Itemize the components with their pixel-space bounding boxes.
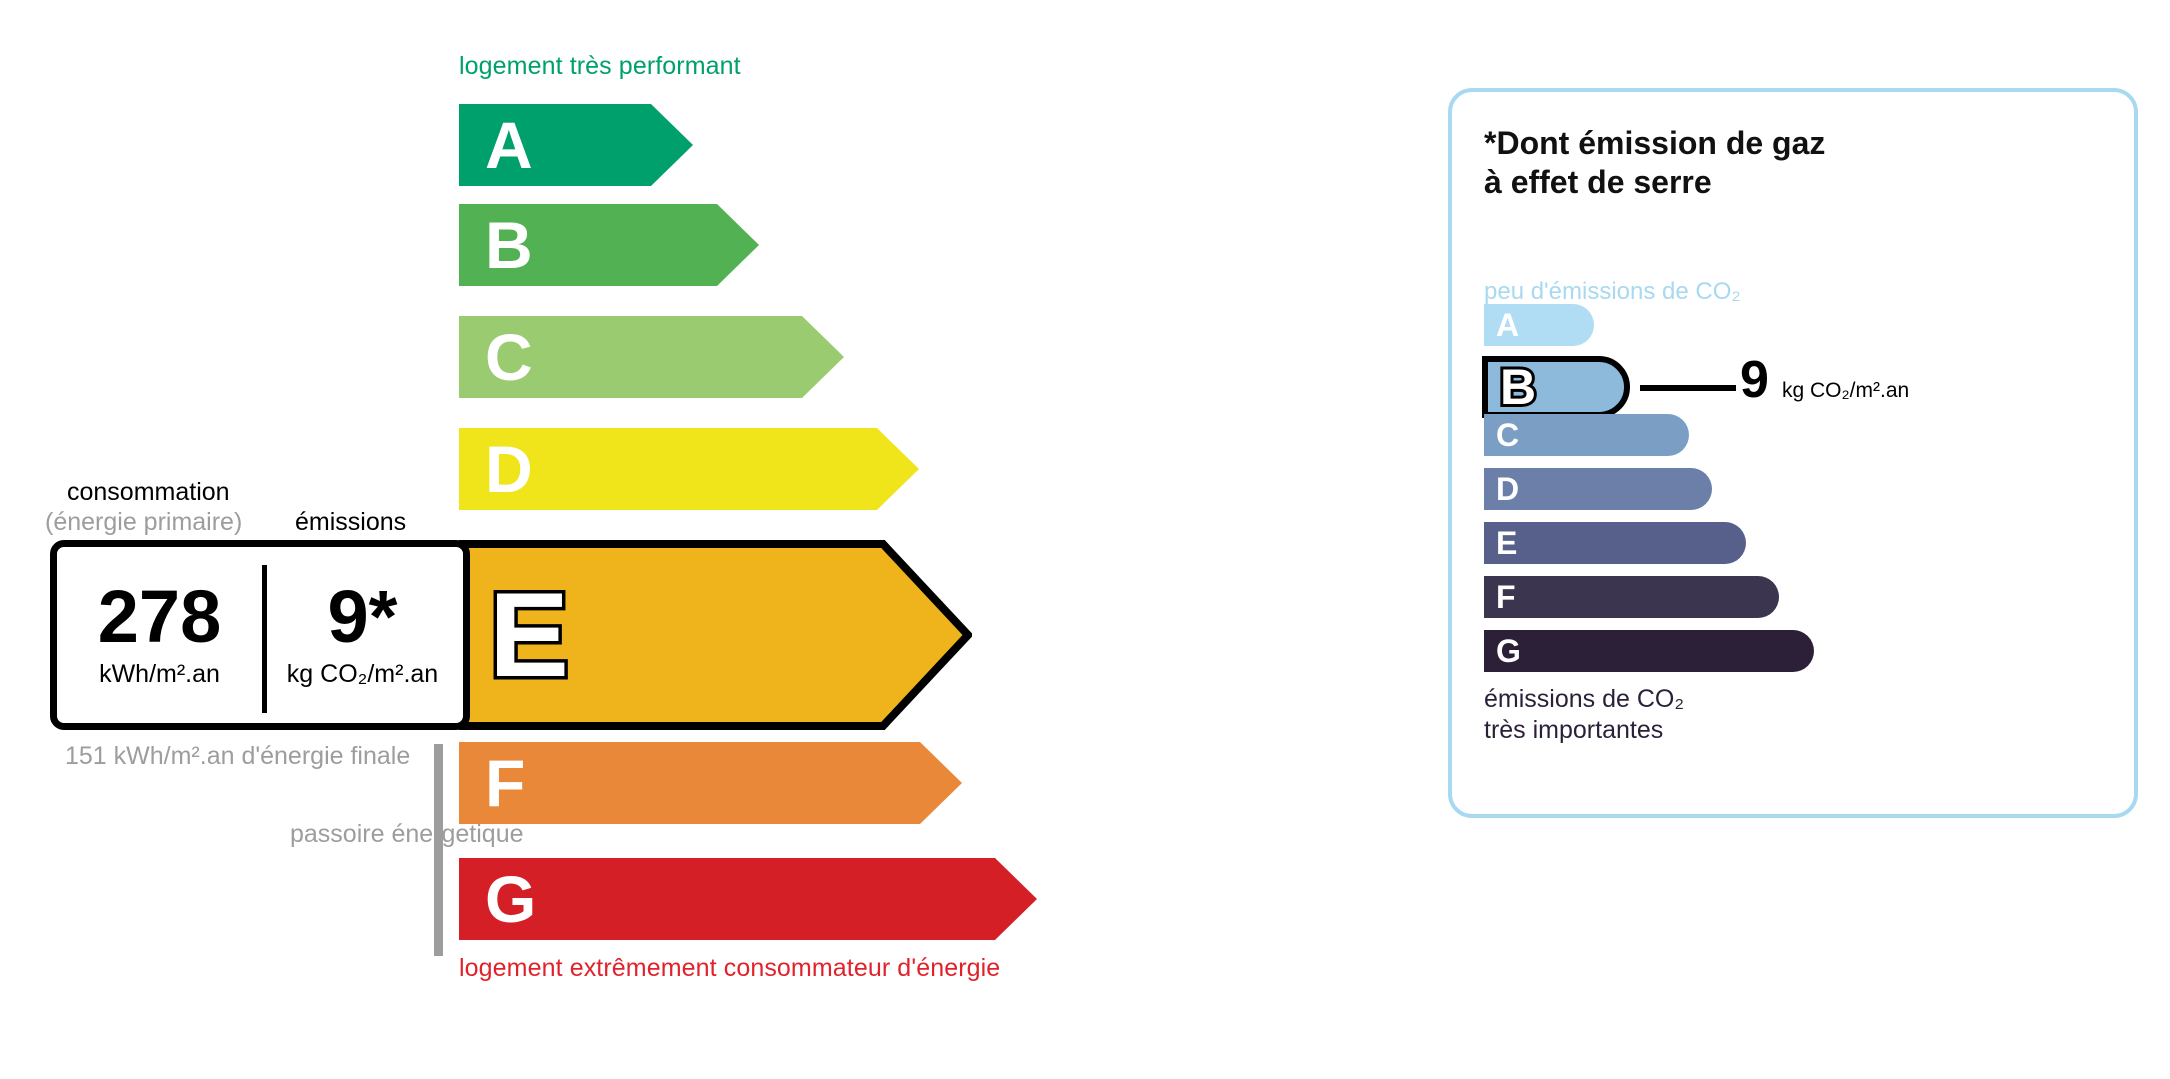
energy-bar-c: C xyxy=(459,316,844,398)
co2-bar-g: G xyxy=(1484,630,1814,672)
consumption-value: 278 xyxy=(98,581,221,654)
dpe-energy-label: logement très performant A B C xyxy=(0,0,2170,1079)
label-energie-finale: 151 kWh/m².an d'énergie finale xyxy=(65,740,410,773)
co2-letter-e: E xyxy=(1496,527,1517,559)
co2-letter-b: B xyxy=(1500,362,1536,412)
energy-bar-g: G xyxy=(459,858,1037,940)
energy-letter-f: F xyxy=(485,750,525,816)
co2-emissions-panel: *Dont émission de gaz à effet de serre p… xyxy=(1448,88,2138,818)
energy-letter-e: E xyxy=(489,575,569,695)
emission-value-cell: 9* kg CO₂/m².an xyxy=(262,547,463,723)
co2-caption-top: peu d'émissions de CO₂ xyxy=(1484,278,1741,306)
energy-bar-b: B xyxy=(459,204,759,286)
co2-bar-a: A xyxy=(1484,304,1594,346)
energy-bar-d: D xyxy=(459,428,919,510)
label-consommation: consommation xyxy=(67,478,230,507)
energy-caption-bottom: logement extrêmement consommateur d'éner… xyxy=(459,954,1000,983)
consumption-unit: kWh/m².an xyxy=(99,660,220,689)
co2-letter-f: F xyxy=(1496,581,1516,613)
energy-letter-a: A xyxy=(485,112,533,178)
co2-bar-e: E xyxy=(1484,522,1746,564)
co2-bar-d: D xyxy=(1484,468,1712,510)
co2-bar-c: C xyxy=(1484,414,1689,456)
arrow-shape-f xyxy=(459,742,962,824)
energy-letter-g: G xyxy=(485,866,536,932)
co2-letter-d: D xyxy=(1496,473,1519,505)
emission-unit: kg CO₂/m².an xyxy=(287,660,438,689)
co2-letter-c: C xyxy=(1496,419,1519,451)
energy-caption-top: logement très performant xyxy=(459,52,741,81)
energy-bar-e-selected: E xyxy=(459,540,972,730)
co2-letter-a: A xyxy=(1496,309,1519,341)
energy-consumption-panel: logement très performant A B C xyxy=(0,0,1420,1079)
co2-callout-unit: kg CO₂/m².an xyxy=(1782,379,1909,403)
co2-panel-title: *Dont émission de gaz à effet de serre xyxy=(1484,124,1825,202)
co2-bar-b-selected: B xyxy=(1482,356,1630,418)
energy-value-box: 278 kWh/m².an 9* kg CO₂/m².an xyxy=(50,540,470,730)
co2-callout-value: 9 xyxy=(1740,354,1769,406)
co2-bar-f: F xyxy=(1484,576,1779,618)
co2-callout-leader-line xyxy=(1640,385,1736,391)
energy-letter-d: D xyxy=(485,436,533,502)
co2-letter-g: G xyxy=(1496,635,1521,667)
consumption-value-cell: 278 kWh/m².an xyxy=(57,547,262,723)
energy-letter-c: C xyxy=(485,324,533,390)
label-energie-primaire: (énergie primaire) xyxy=(45,508,242,537)
energy-bar-a: A xyxy=(459,104,693,186)
co2-caption-bottom: émissions de CO₂ très importantes xyxy=(1484,684,1684,747)
energy-letter-b: B xyxy=(485,212,533,278)
arrow-shape-g xyxy=(459,858,1037,940)
energy-bar-f: F xyxy=(459,742,962,824)
label-emissions: émissions xyxy=(295,508,406,537)
emission-value: 9* xyxy=(328,581,398,654)
